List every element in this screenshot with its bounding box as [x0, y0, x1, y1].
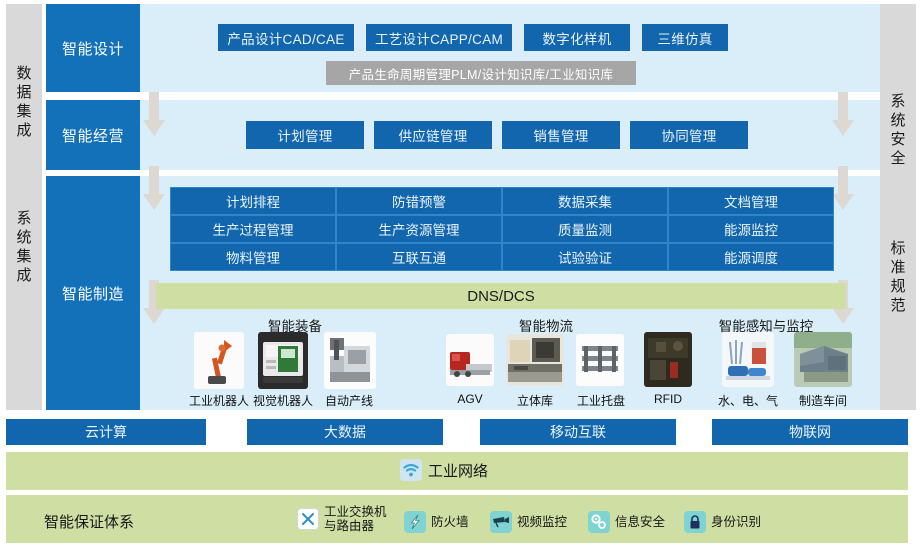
sec-item-switch-router[interactable]: 工业交换机 与路由器 — [297, 505, 387, 533]
grid-cell[interactable]: 生产过程管理 — [170, 215, 336, 243]
layer-label: 智能经营 — [62, 125, 124, 146]
cell-label: 计划排程 — [226, 191, 280, 211]
cell-label: 生产资源管理 — [379, 219, 460, 239]
operation-item-plan-mgmt[interactable]: 计划管理 — [246, 121, 364, 149]
infra-item-mobile[interactable]: 移动互联 — [480, 419, 676, 445]
btn-label: 产品生命周期管理PLM/设计知识库/工业知识库 — [349, 64, 614, 83]
cell-label: 物料管理 — [226, 247, 280, 267]
sec-item-label: 信息安全 — [615, 515, 665, 529]
operation-item-supply-chain[interactable]: 供应链管理 — [374, 121, 492, 149]
down-arrow-icon — [832, 92, 854, 136]
btn-label: 销售管理 — [533, 125, 588, 145]
cell-label: 能源监控 — [724, 219, 778, 239]
btn-label: 产品设计CAD/CAE — [227, 28, 344, 48]
firewall-icon — [404, 511, 426, 533]
switch-router-icon — [297, 508, 319, 530]
design-item-plm[interactable]: 产品生命周期管理PLM/设计知识库/工业知识库 — [326, 61, 636, 85]
down-arrow-icon — [143, 92, 165, 136]
btn-label: 物联网 — [789, 422, 831, 442]
btn-label: 数字化样机 — [543, 28, 612, 48]
wifi-icon — [400, 459, 422, 481]
thumb-industrial-pallet[interactable] — [576, 334, 624, 386]
design-item-3d-simulation[interactable]: 三维仿真 — [642, 24, 728, 51]
cell-label: 能源调度 — [724, 247, 778, 267]
layer-box-smart-design[interactable]: 智能设计 — [46, 4, 140, 92]
grid-cell[interactable]: 能源监控 — [668, 215, 834, 243]
cell-label: 数据采集 — [558, 191, 612, 211]
grid-cell[interactable]: 文档管理 — [668, 187, 834, 215]
thumb-caption: AGV — [442, 392, 498, 406]
sec-item-label: 身份识别 — [711, 515, 761, 529]
design-item-cad-cae[interactable]: 产品设计CAD/CAE — [218, 24, 354, 51]
side-label-system-integration: 系 统 集 成 — [6, 209, 42, 285]
thumb-rfid[interactable] — [644, 332, 692, 387]
thumb-caption: 制造车间 — [791, 392, 855, 409]
cell-label: 质量监测 — [558, 219, 612, 239]
thumb-caption: 工业机器人 — [186, 392, 252, 409]
layer-box-smart-manufacturing[interactable]: 智能制造 — [46, 176, 140, 410]
btn-label: 协同管理 — [661, 125, 716, 145]
cell-label: 防错预警 — [392, 191, 446, 211]
operation-item-collab-mgmt[interactable]: 协同管理 — [630, 121, 748, 149]
btn-label: 供应链管理 — [399, 125, 468, 145]
grid-cell[interactable]: 数据采集 — [502, 187, 668, 215]
btn-label: 大数据 — [324, 422, 366, 442]
infra-item-cloud[interactable]: 云计算 — [6, 419, 206, 445]
operation-item-sales-mgmt[interactable]: 销售管理 — [502, 121, 620, 149]
btn-label: 计划管理 — [277, 125, 332, 145]
btn-label: 工艺设计CAPP/CAM — [375, 28, 503, 48]
thumb-caption: 自动产线 — [318, 392, 380, 409]
info-security-icon — [588, 511, 610, 533]
thumb-agv[interactable] — [446, 334, 494, 386]
sec-item-video-surveillance[interactable]: 视频监控 — [490, 511, 567, 533]
cell-label: 文档管理 — [724, 191, 778, 211]
side-label-system-security: 系 统 安 全 — [880, 92, 916, 168]
btn-label: 移动互联 — [550, 422, 606, 442]
down-arrow-icon — [143, 166, 165, 210]
thumb-utilities[interactable] — [722, 332, 774, 387]
infra-item-iot[interactable]: 物联网 — [712, 419, 908, 445]
sec-item-identity[interactable]: 身份识别 — [684, 511, 761, 533]
guarantee-system-title: 智能保证体系 — [44, 511, 134, 532]
industrial-network-label: 工业网络 — [428, 460, 488, 481]
btn-label: 三维仿真 — [657, 28, 712, 48]
side-label-standard-spec: 标 准 规 范 — [880, 239, 916, 315]
thumb-stereo-warehouse[interactable] — [506, 334, 564, 386]
design-item-digital-prototype[interactable]: 数字化样机 — [524, 24, 630, 51]
thumb-caption: 视觉机器人 — [250, 392, 316, 409]
thumb-industrial-robot[interactable] — [194, 332, 244, 389]
industrial-network-group[interactable]: 工业网络 — [400, 459, 488, 481]
dns-dcs-bar[interactable]: DNS/DCS — [156, 283, 846, 309]
btn-label: 云计算 — [85, 422, 127, 442]
sec-item-info-security[interactable]: 信息安全 — [588, 511, 665, 533]
design-item-capp-cam[interactable]: 工艺设计CAPP/CAM — [366, 24, 512, 51]
layer-box-smart-operation[interactable]: 智能经营 — [46, 100, 140, 170]
cell-label: 互联互通 — [392, 247, 446, 267]
cell-label: 试验验证 — [558, 247, 612, 267]
side-label-data-integration: 数 据 集 成 — [6, 64, 42, 140]
sec-item-label: 防火墙 — [431, 515, 469, 529]
grid-cell[interactable]: 能源调度 — [668, 243, 834, 271]
grid-cell[interactable]: 试验验证 — [502, 243, 668, 271]
right-side-column: 系 统 安 全 标 准 规 范 — [880, 4, 916, 410]
thumb-caption: 工业托盘 — [574, 392, 628, 409]
cell-label: 生产过程管理 — [213, 219, 294, 239]
thumb-vision-robot[interactable] — [258, 332, 308, 389]
grid-cell[interactable]: 质量监测 — [502, 215, 668, 243]
sec-item-firewall[interactable]: 防火墙 — [404, 511, 469, 533]
dns-dcs-label: DNS/DCS — [467, 288, 535, 305]
diagram-root: 数 据 集 成 系 统 集 成 系 统 安 全 标 准 规 范 智能设计 智能经… — [0, 0, 922, 554]
group-title-smart-logistics: 智能物流 — [501, 315, 591, 335]
layer-label: 智能制造 — [62, 283, 124, 304]
main-panel: 智能设计 智能经营 智能制造 产品设计CAD/CAE — [46, 4, 880, 410]
grid-cell[interactable]: 生产资源管理 — [336, 215, 502, 243]
thumb-auto-production-line[interactable] — [324, 332, 376, 389]
thumb-caption: 水、电、气 — [714, 392, 782, 409]
thumb-factory-workshop[interactable] — [794, 332, 852, 387]
layer-label: 智能设计 — [62, 38, 124, 59]
grid-cell[interactable]: 计划排程 — [170, 187, 336, 215]
thumb-caption: RFID — [643, 392, 693, 406]
video-surveillance-icon — [490, 511, 512, 533]
sec-item-label: 视频监控 — [517, 515, 567, 529]
thumb-caption: 立体库 — [509, 392, 561, 409]
infra-item-bigdata[interactable]: 大数据 — [247, 419, 443, 445]
grid-cell[interactable]: 防错预警 — [336, 187, 502, 215]
identity-lock-icon — [684, 511, 706, 533]
grid-cell[interactable]: 物料管理 — [170, 243, 336, 271]
sec-item-label: 工业交换机 与路由器 — [324, 505, 387, 533]
left-side-column: 数 据 集 成 系 统 集 成 — [6, 4, 42, 410]
down-arrow-icon — [832, 166, 854, 210]
grid-cell[interactable]: 互联互通 — [336, 243, 502, 271]
